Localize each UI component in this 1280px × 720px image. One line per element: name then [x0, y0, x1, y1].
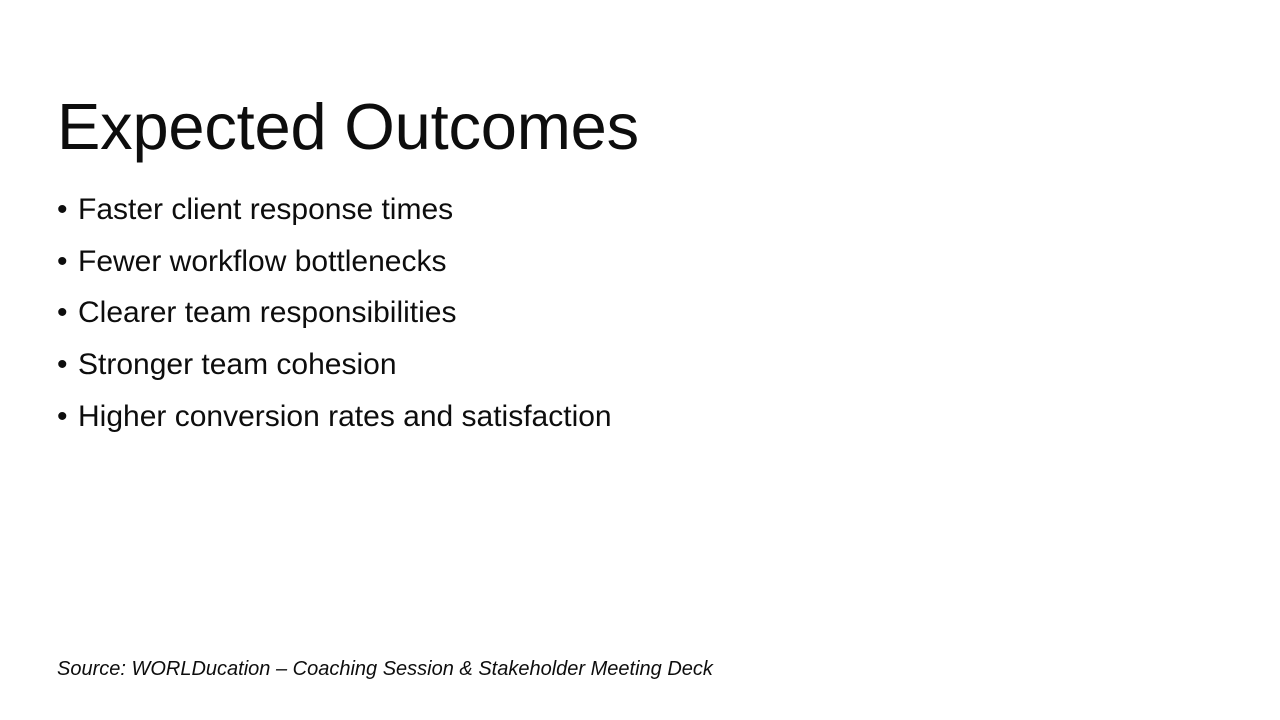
list-item: • Clearer team responsibilities: [57, 287, 1217, 339]
list-item: • Faster client response times: [57, 184, 1217, 236]
bullet-item-label: Fewer workflow bottlenecks: [78, 236, 446, 288]
bullet-list: • Faster client response times • Fewer w…: [57, 184, 1217, 442]
bullet-point-icon: •: [57, 287, 78, 339]
presentation-slide: Expected Outcomes • Faster client respon…: [0, 0, 1280, 720]
list-item: • Fewer workflow bottlenecks: [57, 236, 1217, 288]
list-item: • Stronger team cohesion: [57, 339, 1217, 391]
source-attribution: Source: WORLDucation – Coaching Session …: [57, 655, 713, 683]
bullet-item-label: Stronger team cohesion: [78, 339, 397, 391]
list-item: • Higher conversion rates and satisfacti…: [57, 391, 1217, 443]
bullet-item-label: Higher conversion rates and satisfaction: [78, 391, 612, 443]
bullet-item-label: Faster client response times: [78, 184, 453, 236]
bullet-point-icon: •: [57, 236, 78, 288]
page-title: Expected Outcomes: [57, 92, 1217, 162]
bullet-point-icon: •: [57, 339, 78, 391]
bullet-item-label: Clearer team responsibilities: [78, 287, 457, 339]
bullet-point-icon: •: [57, 184, 78, 236]
bullet-point-icon: •: [57, 391, 78, 443]
